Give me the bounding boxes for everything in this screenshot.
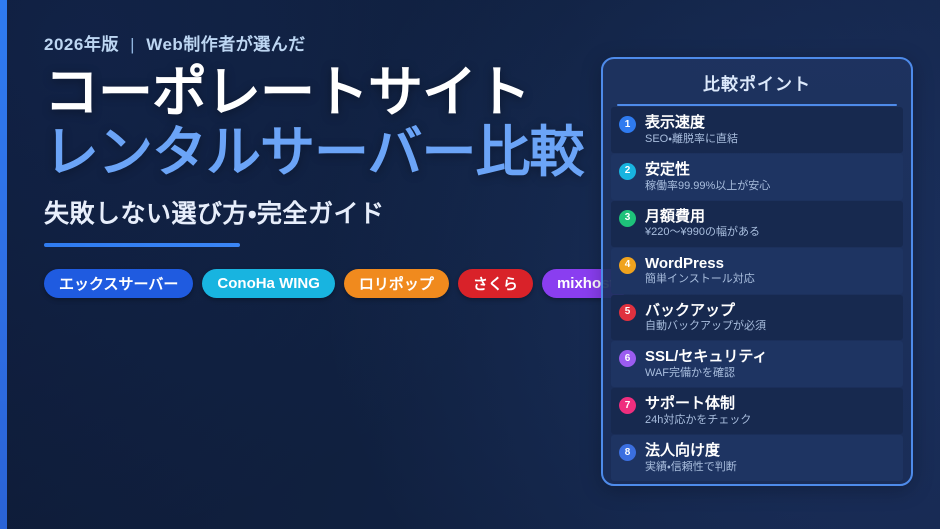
list-item[interactable]: 7サポート体制24h対応かをチェック [611, 388, 903, 434]
list-item-subtitle: 24h対応かをチェック [645, 414, 751, 427]
divider-rule [44, 243, 240, 247]
list-item-title: サポート体制 [645, 395, 751, 413]
list-item-text: WordPress簡単インストール対応 [645, 255, 755, 287]
list-item-title: 月額費用 [645, 208, 760, 226]
list-item-text: サポート体制24h対応かをチェック [645, 395, 751, 427]
list-item[interactable]: 1表示速度SEO・離脱率に直結 [611, 107, 903, 153]
eyebrow-text: Web制作者が選んだ [146, 35, 306, 54]
list-item-title: バックアップ [645, 302, 766, 320]
comparison-points-panel: 比較ポイント 1表示速度SEO・離脱率に直結2安定性稼働率99.99%以上が安心… [601, 57, 913, 486]
comparison-points-list: 1表示速度SEO・離脱率に直結2安定性稼働率99.99%以上が安心3月額費用¥2… [603, 107, 911, 481]
list-item-title: 安定性 [645, 161, 770, 179]
list-item-subtitle: WAF完備かを確認 [645, 367, 767, 380]
rank-badge: 6 [619, 350, 636, 367]
list-item[interactable]: 5バックアップ自動バックアップが必須 [611, 295, 903, 341]
list-item-subtitle: 稼働率99.99%以上が安心 [645, 180, 770, 193]
service-pill[interactable]: ロリポップ [344, 269, 449, 298]
service-pill[interactable]: エックスサーバー [44, 269, 193, 298]
list-item-title: 表示速度 [645, 114, 738, 132]
panel-header: 比較ポイント [603, 59, 911, 106]
list-item-subtitle: ¥220〜¥990の幅がある [645, 226, 760, 239]
list-item-text: 法人向け度実績・信頼性で判断 [645, 442, 737, 474]
list-item[interactable]: 3月額費用¥220〜¥990の幅がある [611, 201, 903, 247]
eyebrow: 2026年版 | Web制作者が選んだ [44, 30, 584, 55]
list-item-title: SSL/セキュリティ [645, 348, 767, 366]
left-accent-bar [0, 0, 7, 529]
page-title-line2: レンタルサーバー比較 [44, 124, 584, 180]
rank-badge: 3 [619, 210, 636, 227]
list-item-text: SSL/セキュリティWAF完備かを確認 [645, 348, 767, 380]
list-item[interactable]: 4WordPress簡単インストール対応 [611, 248, 903, 294]
rank-badge: 8 [619, 444, 636, 461]
list-item-subtitle: 簡単インストール対応 [645, 273, 755, 286]
service-pill[interactable]: ConoHa WING [202, 269, 335, 298]
rank-badge: 7 [619, 397, 636, 414]
service-pill[interactable]: さくら [458, 269, 533, 298]
list-item[interactable]: 8法人向け度実績・信頼性で判断 [611, 435, 903, 481]
list-item-text: 表示速度SEO・離脱率に直結 [645, 114, 738, 146]
page-subtitle: 失敗しない選び方・完全ガイド [44, 194, 584, 230]
rank-badge: 1 [619, 116, 636, 133]
list-item-text: バックアップ自動バックアップが必須 [645, 302, 766, 334]
list-item-text: 安定性稼働率99.99%以上が安心 [645, 161, 770, 193]
service-pill-list: エックスサーバーConoHa WINGロリポップさくらmixhost [44, 269, 584, 298]
eyebrow-year: 2026年版 [44, 35, 119, 54]
list-item-title: 法人向け度 [645, 442, 737, 460]
panel-title-underline [617, 104, 897, 106]
rank-badge: 5 [619, 304, 636, 321]
list-item-subtitle: 実績・信頼性で判断 [645, 461, 737, 474]
list-item-text: 月額費用¥220〜¥990の幅がある [645, 208, 760, 240]
list-item-title: WordPress [645, 255, 755, 273]
panel-title: 比較ポイント [617, 70, 897, 95]
eyebrow-separator: | [124, 35, 141, 54]
list-item-subtitle: SEO・離脱率に直結 [645, 133, 738, 146]
hero-text-column: 2026年版 | Web制作者が選んだ コーポレートサイト レンタルサーバー比較… [44, 30, 584, 298]
list-item[interactable]: 6SSL/セキュリティWAF完備かを確認 [611, 341, 903, 387]
list-item[interactable]: 2安定性稼働率99.99%以上が安心 [611, 154, 903, 200]
page-title-line1: コーポレートサイト [44, 64, 584, 120]
rank-badge: 4 [619, 257, 636, 274]
rank-badge: 2 [619, 163, 636, 180]
list-item-subtitle: 自動バックアップが必須 [645, 320, 766, 333]
hero-banner: 2026年版 | Web制作者が選んだ コーポレートサイト レンタルサーバー比較… [0, 0, 940, 529]
